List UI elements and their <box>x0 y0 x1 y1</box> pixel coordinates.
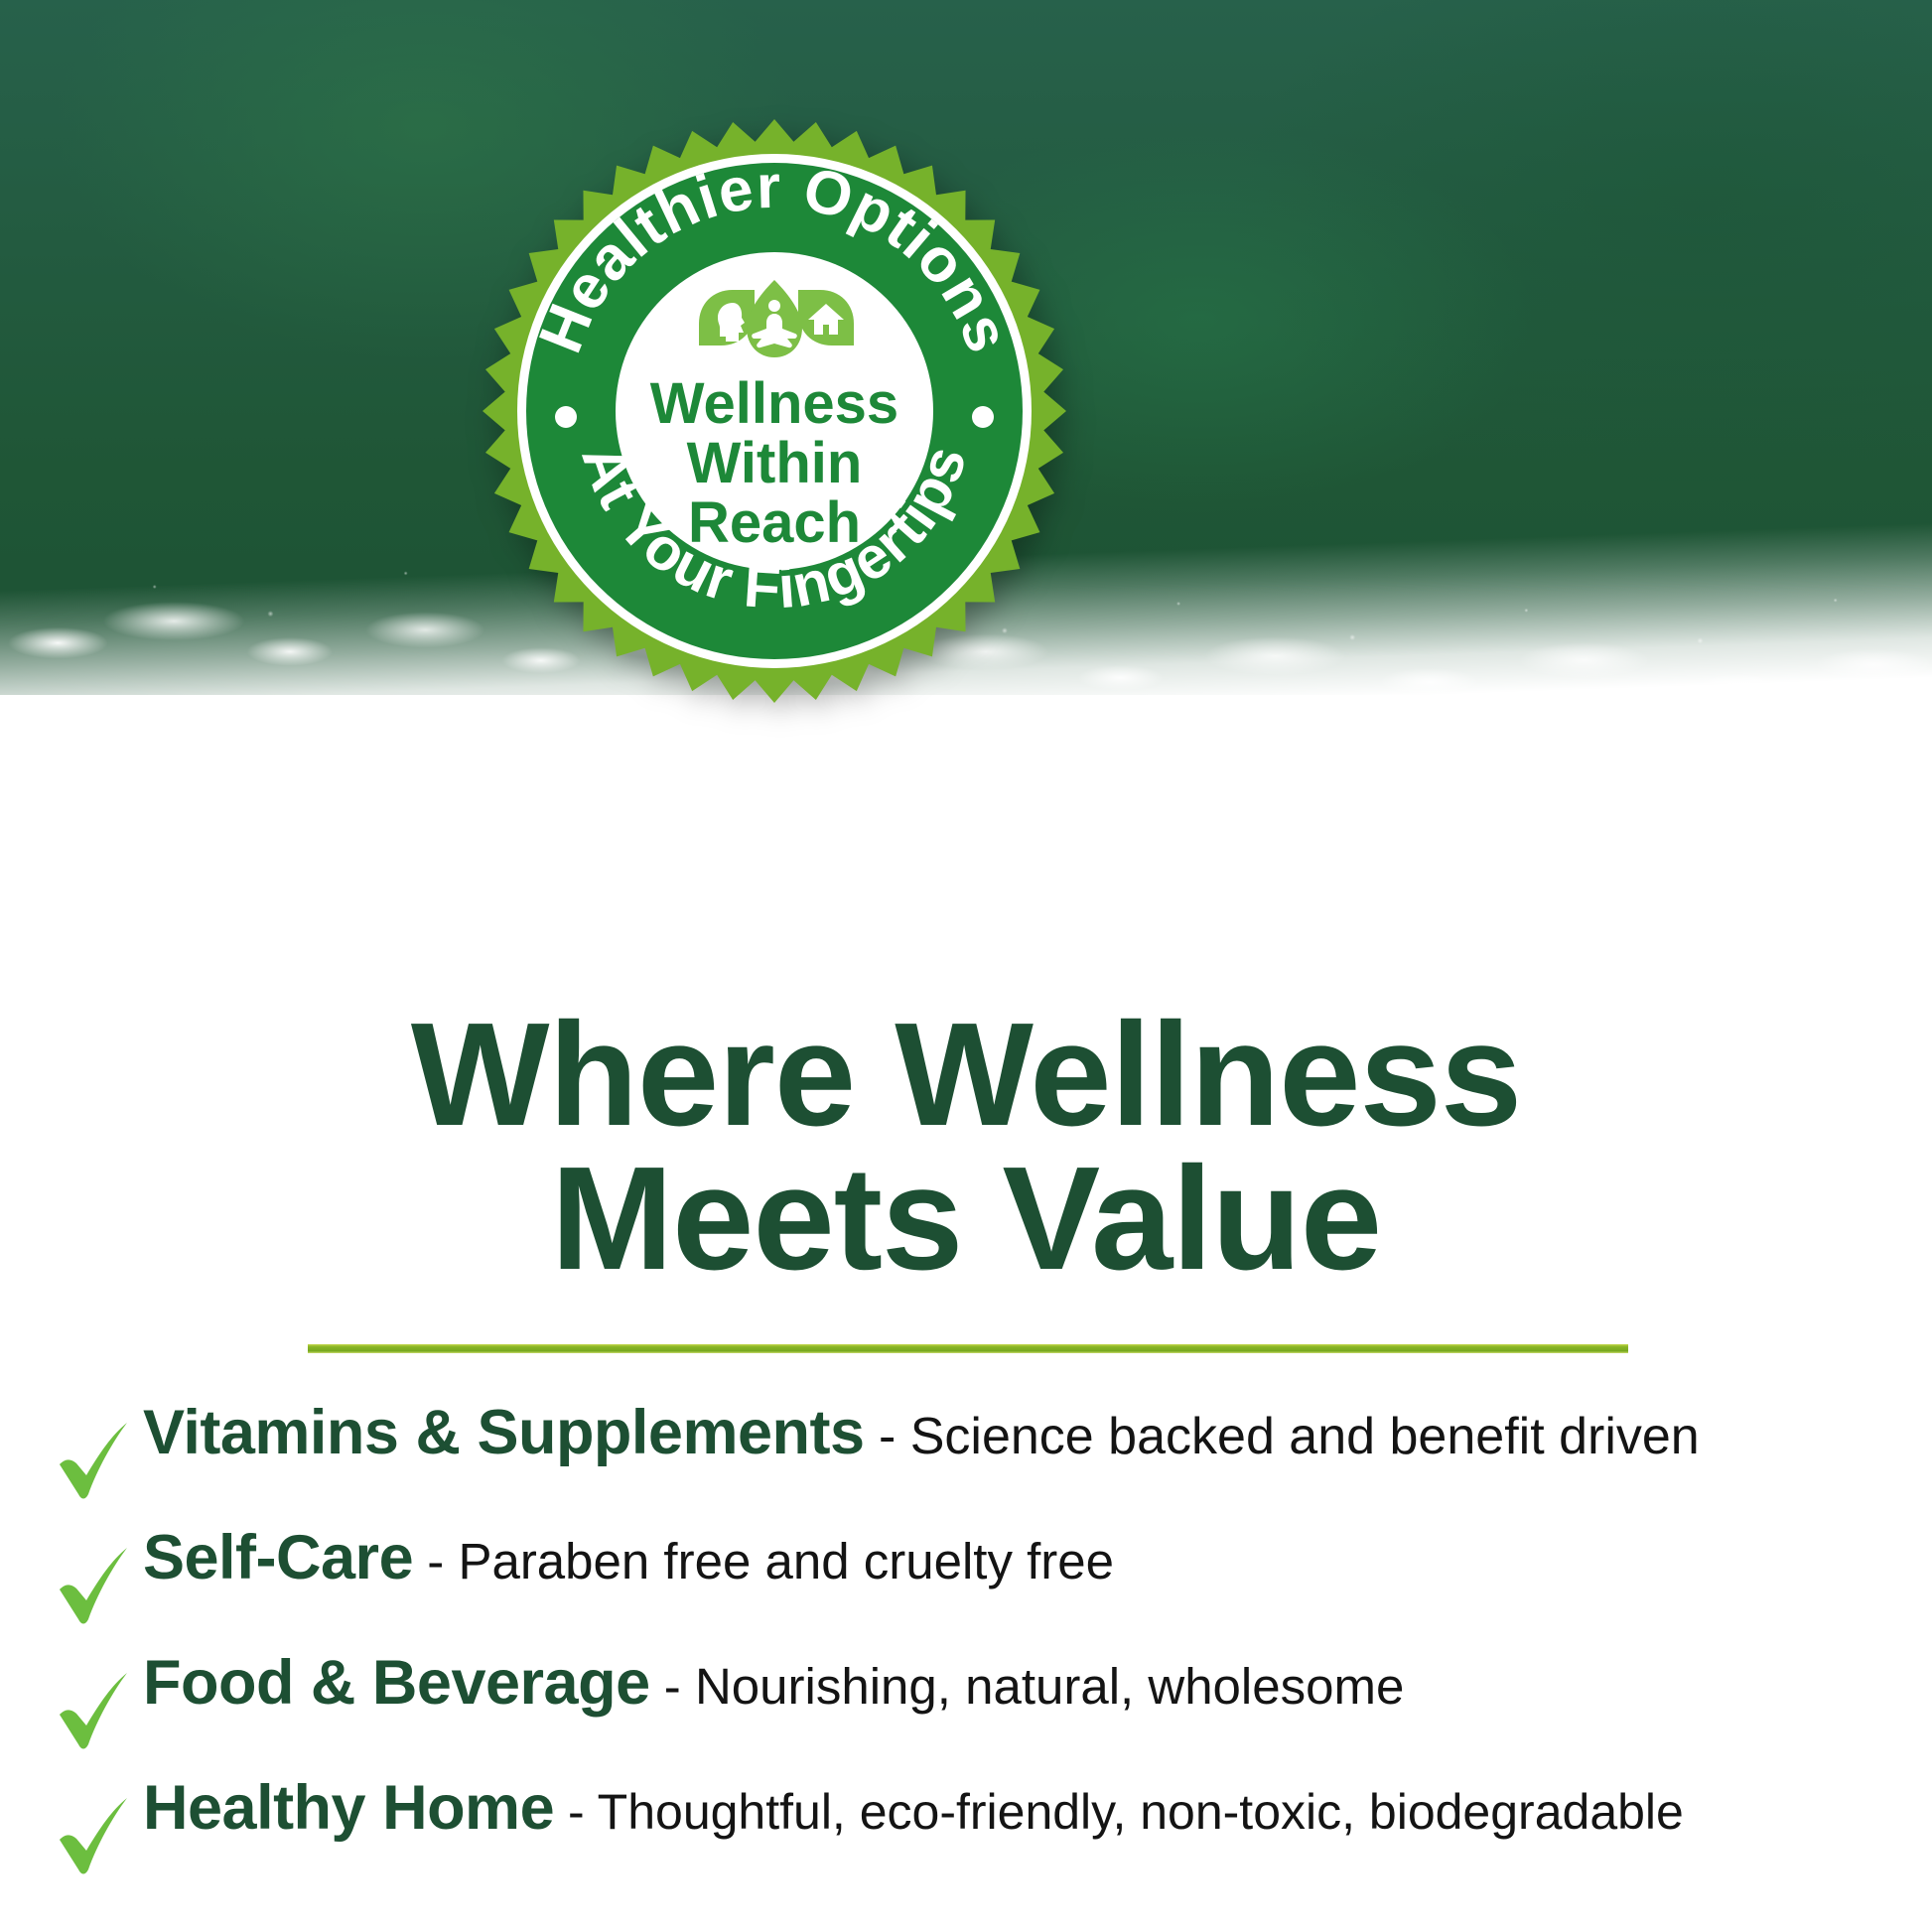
list-item-title: Healthy Home <box>143 1773 554 1843</box>
list-item: Food & Beverage - Nourishing, natural, w… <box>48 1652 1904 1777</box>
checkmark-icon <box>48 1665 143 1764</box>
badge-right-dot <box>972 406 994 428</box>
list-item-separator: - <box>650 1658 695 1715</box>
list-item-description: Science backed and benefit driven <box>910 1408 1700 1465</box>
badge-left-dot <box>555 406 577 428</box>
list-item-separator: - <box>865 1408 910 1465</box>
list-item: Self-Care - Paraben free and cruelty fre… <box>48 1527 1904 1652</box>
badge-center-line-1: Wellness <box>650 371 898 436</box>
checkmark-icon <box>48 1415 143 1514</box>
checkmark-icon <box>48 1540 143 1639</box>
list-item-text: Self-Care - Paraben free and cruelty fre… <box>143 1527 1114 1589</box>
page-headline: Where Wellness Meets Value <box>0 1003 1932 1291</box>
headline-line-1: Where Wellness <box>0 1003 1932 1147</box>
list-item-title: Vitamins & Supplements <box>143 1398 865 1467</box>
list-item-description: Paraben free and cruelty free <box>458 1533 1114 1589</box>
list-item-title: Self-Care <box>143 1523 413 1592</box>
badge-center-line-2: Within <box>687 431 863 495</box>
list-item: Vitamins & Supplements - Science backed … <box>48 1402 1904 1527</box>
list-item-text: Healthy Home - Thoughtful, eco-friendly,… <box>143 1777 1684 1840</box>
feature-list: Vitamins & Supplements - Science backed … <box>48 1402 1904 1902</box>
badge-center-line-3: Reach <box>688 490 861 555</box>
list-item-title: Food & Beverage <box>143 1648 650 1718</box>
list-item-separator: - <box>413 1533 458 1589</box>
list-item-separator: - <box>554 1784 598 1840</box>
wellness-within-reach-badge: Healthier Options At Your Fingertips Wel… <box>483 119 1066 703</box>
headline-line-2: Meets Value <box>0 1147 1932 1291</box>
list-item-description: Nourishing, natural, wholesome <box>695 1658 1404 1715</box>
list-item-description: Thoughtful, eco-friendly, non-toxic, bio… <box>598 1784 1684 1840</box>
list-item: Healthy Home - Thoughtful, eco-friendly,… <box>48 1777 1904 1902</box>
list-item-text: Food & Beverage - Nourishing, natural, w… <box>143 1652 1404 1715</box>
headline-divider <box>308 1344 1628 1353</box>
checkmark-icon <box>48 1790 143 1889</box>
list-item-text: Vitamins & Supplements - Science backed … <box>143 1402 1700 1464</box>
